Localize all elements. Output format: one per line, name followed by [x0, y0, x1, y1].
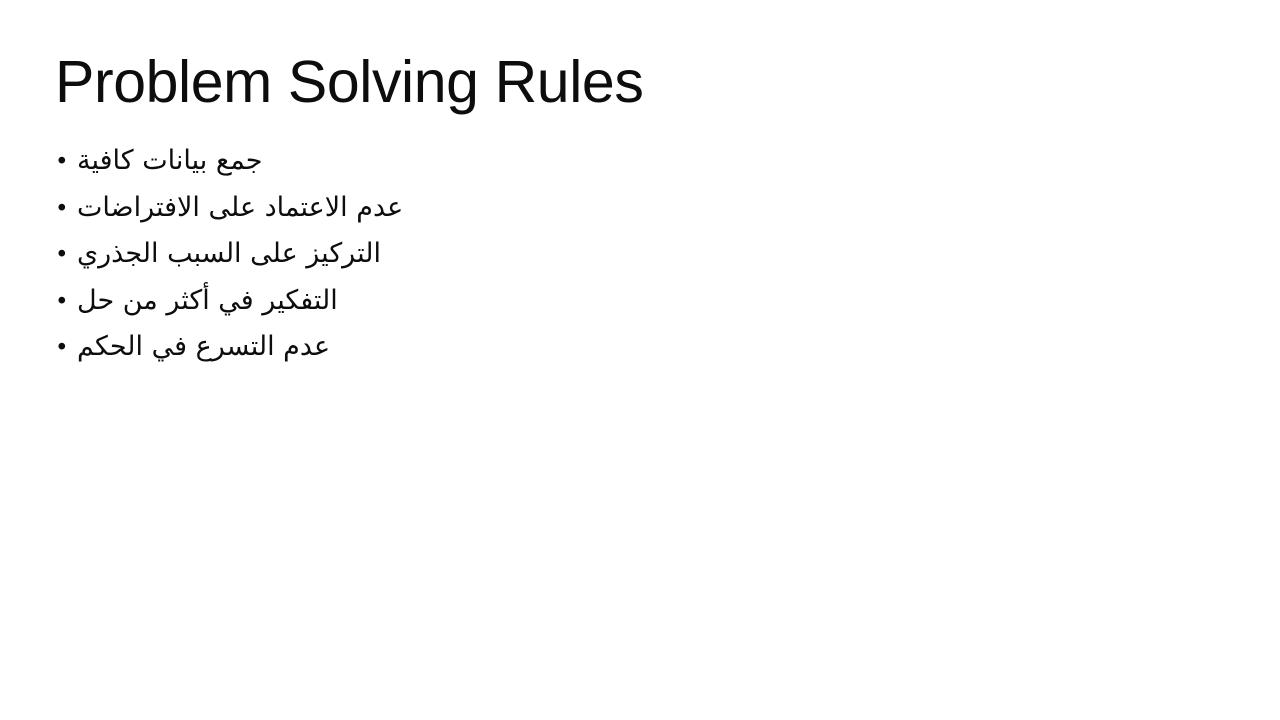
- bullet-point-icon: •: [55, 291, 77, 314]
- list-item[interactable]: • التركيز على السبب الجذري: [55, 238, 1195, 285]
- bullet-point-icon: •: [55, 198, 77, 221]
- list-item-label: جمع بيانات كافية: [77, 145, 263, 178]
- list-item[interactable]: • التفكير في أكثر من حل: [55, 285, 1195, 332]
- list-item-label: عدم الاعتماد على الافتراضات: [77, 192, 403, 225]
- list-item[interactable]: • جمع بيانات كافية: [55, 145, 1195, 192]
- bullet-point-icon: •: [55, 337, 77, 360]
- list-item-label: التفكير في أكثر من حل: [77, 285, 338, 318]
- list-item[interactable]: • عدم الاعتماد على الافتراضات: [55, 192, 1195, 239]
- list-item-label: التركيز على السبب الجذري: [77, 238, 381, 271]
- page-title: Problem Solving Rules: [55, 52, 1155, 113]
- list-item[interactable]: • عدم التسرع في الحكم: [55, 331, 1195, 378]
- slide-canvas: Problem Solving Rules • جمع بيانات كافية…: [0, 0, 1280, 720]
- bullet-point-icon: •: [55, 151, 77, 174]
- bullet-list: • جمع بيانات كافية • عدم الاعتماد على ال…: [55, 145, 1195, 378]
- list-item-label: عدم التسرع في الحكم: [77, 331, 330, 364]
- bullet-point-icon: •: [55, 244, 77, 267]
